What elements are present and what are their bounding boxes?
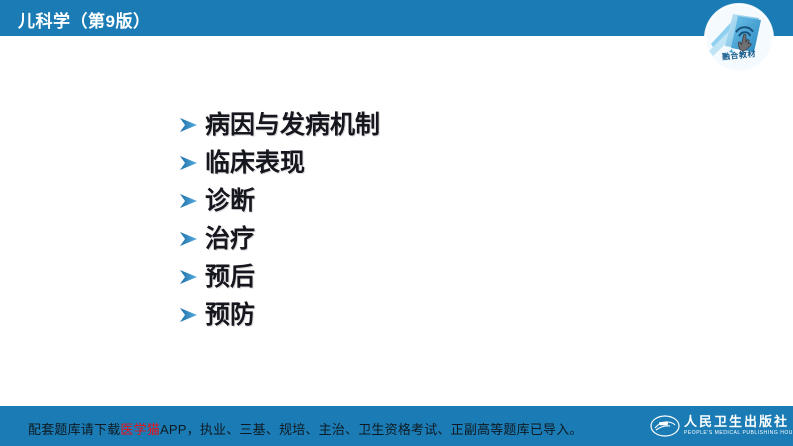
footer-app-name: 医学猫 [120, 422, 160, 437]
publisher-name-en: PEOPLE'S MEDICAL PUBLISHING HOUSE [684, 429, 793, 437]
arrow-bullet-icon [178, 305, 205, 325]
arrow-bullet-icon [178, 153, 205, 173]
publisher-logo: 人民卫生出版社 PEOPLE'S MEDICAL PUBLISHING HOUS… [650, 411, 782, 441]
list-item[interactable]: 诊断 [178, 182, 698, 220]
publisher-wordmark: 人民卫生出版社 PEOPLE'S MEDICAL PUBLISHING HOUS… [684, 415, 793, 437]
list-item[interactable]: 预后 [178, 258, 698, 296]
list-item-label: 诊断 [205, 189, 255, 214]
list-item[interactable]: 病因与发病机制 [178, 106, 698, 144]
fusion-textbook-logo: 融合教材 [705, 4, 773, 72]
arrow-bullet-icon [178, 229, 205, 249]
slide-canvas: 儿科学（第9版） [0, 0, 793, 446]
footer-promo-text: 配套题库请下载医学猫APP，执业、三基、规培、主治、卫生资格考试、正副高等题库已… [28, 419, 583, 438]
page-title: 儿科学（第9版） [18, 7, 150, 32]
pmph-emblem-icon [650, 415, 680, 437]
list-item-label: 临床表现 [205, 151, 305, 176]
list-item[interactable]: 治疗 [178, 220, 698, 258]
footer-text-before: 配套题库请下载 [28, 422, 120, 437]
arrow-bullet-icon [178, 267, 205, 287]
list-item-label: 病因与发病机制 [205, 113, 380, 138]
list-item-label: 预后 [205, 265, 255, 290]
list-item-label: 治疗 [205, 227, 255, 252]
arrow-bullet-icon [178, 191, 205, 211]
arrow-bullet-icon [178, 115, 205, 135]
list-item[interactable]: 预防 [178, 296, 698, 334]
outline-list: 病因与发病机制 临床表现 诊断 治疗 [178, 106, 698, 334]
publisher-name-cn: 人民卫生出版社 [684, 415, 793, 429]
footer-text-after: APP，执业、三基、规培、主治、卫生资格考试、正副高等题库已导入。 [160, 422, 583, 437]
list-item-label: 预防 [205, 303, 255, 328]
list-item[interactable]: 临床表现 [178, 144, 698, 182]
